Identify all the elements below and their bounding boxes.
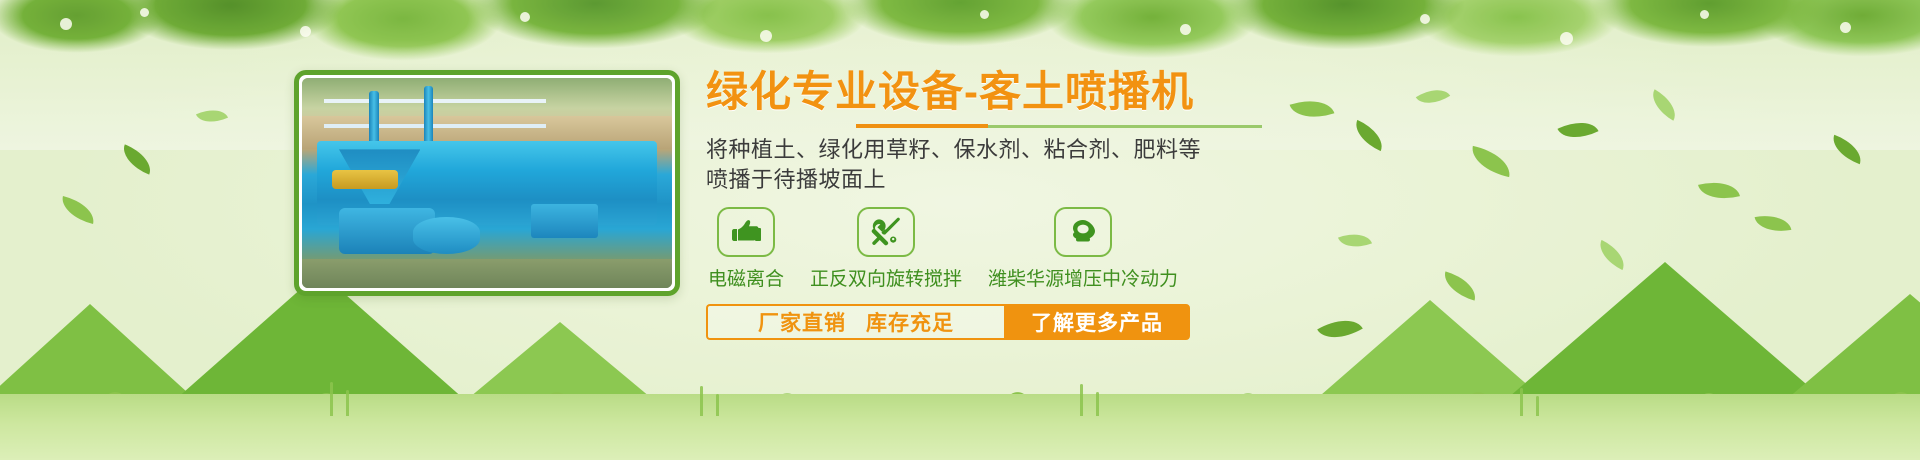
blossom-dot <box>1700 10 1709 19</box>
feature-icon-box <box>857 207 915 257</box>
learn-more-button[interactable]: 了解更多产品 <box>1004 304 1190 340</box>
blossom-dot <box>1180 24 1191 35</box>
photo-yellow-part <box>332 170 399 189</box>
cta-tags: 厂家直销 库存充足 <box>706 304 1004 340</box>
photo-pipe <box>424 86 433 145</box>
blossom-dot <box>60 18 72 30</box>
tools-wrench-screwdriver-icon <box>869 216 903 248</box>
feature-list: 电磁离合 正反双向旋转搅拌 <box>706 207 1326 291</box>
blossom-dot <box>300 26 311 37</box>
photo-ground <box>302 259 672 288</box>
thumbs-up-icon <box>729 217 763 247</box>
blossom-dot <box>1840 22 1851 33</box>
grass-blade <box>1096 392 1099 416</box>
grass-blade <box>700 386 703 416</box>
feature-label: 正反双向旋转搅拌 <box>810 264 962 291</box>
grass-blade <box>346 390 349 416</box>
photo-rail <box>324 99 546 103</box>
subtitle: 将种植土、绿化用草籽、保水剂、粘合剂、肥料等 喷播于待播坡面上 <box>706 135 1326 195</box>
floating-leaf <box>1698 176 1740 206</box>
feature-item-bidirectional-mixing[interactable]: 正反双向旋转搅拌 <box>810 207 962 291</box>
divider-green-segment <box>988 125 1262 128</box>
feature-item-weichai-power[interactable]: 潍柴华源增压中冷动力 <box>988 207 1178 291</box>
blossom-dot <box>1420 14 1430 24</box>
floating-leaf <box>1755 211 1792 236</box>
blossom-dot <box>980 10 989 19</box>
grass-blade <box>330 382 333 416</box>
photo-pump <box>413 217 480 255</box>
feature-label: 潍柴华源增压中冷动力 <box>988 264 1178 291</box>
feature-icon-box <box>717 207 775 257</box>
engine-power-icon <box>1066 217 1100 247</box>
cta-tag-in-stock: 库存充足 <box>866 307 954 337</box>
grass-blade <box>1536 396 1539 416</box>
grass-blade <box>716 394 719 416</box>
cta-bar: 厂家直销 库存充足 了解更多产品 <box>706 304 1190 340</box>
subtitle-line-1: 将种植土、绿化用草籽、保水剂、粘合剂、肥料等 <box>706 135 1326 165</box>
grass-foreground <box>0 394 1920 460</box>
subtitle-line-2: 喷播于待播坡面上 <box>706 165 1326 195</box>
blossom-dot <box>140 8 149 17</box>
floating-leaf <box>1468 146 1514 177</box>
floating-leaf <box>58 196 98 224</box>
photo-rail <box>324 124 546 128</box>
feature-icon-box <box>1054 207 1112 257</box>
banner-content: 绿化专业设备-客土喷播机 将种植土、绿化用草籽、保水剂、粘合剂、肥料等 喷播于待… <box>706 66 1326 340</box>
cta-tag-direct-sales: 厂家直销 <box>758 307 846 337</box>
feature-label: 电磁离合 <box>708 264 784 291</box>
feature-item-electromagnetic-clutch[interactable]: 电磁离合 <box>708 207 784 291</box>
blossom-dot <box>520 12 530 22</box>
grass-blade <box>1520 388 1523 416</box>
product-photo <box>302 78 672 288</box>
page-title: 绿化专业设备-客土喷播机 <box>706 66 1326 118</box>
photo-control-box <box>531 204 598 238</box>
promo-banner: 绿化专业设备-客土喷播机 将种植土、绿化用草籽、保水剂、粘合剂、肥料等 喷播于待… <box>0 0 1920 460</box>
divider-orange-segment <box>856 124 988 128</box>
title-divider <box>706 124 1262 128</box>
product-photo-frame[interactable] <box>294 70 680 296</box>
grass-blade <box>1080 384 1083 416</box>
